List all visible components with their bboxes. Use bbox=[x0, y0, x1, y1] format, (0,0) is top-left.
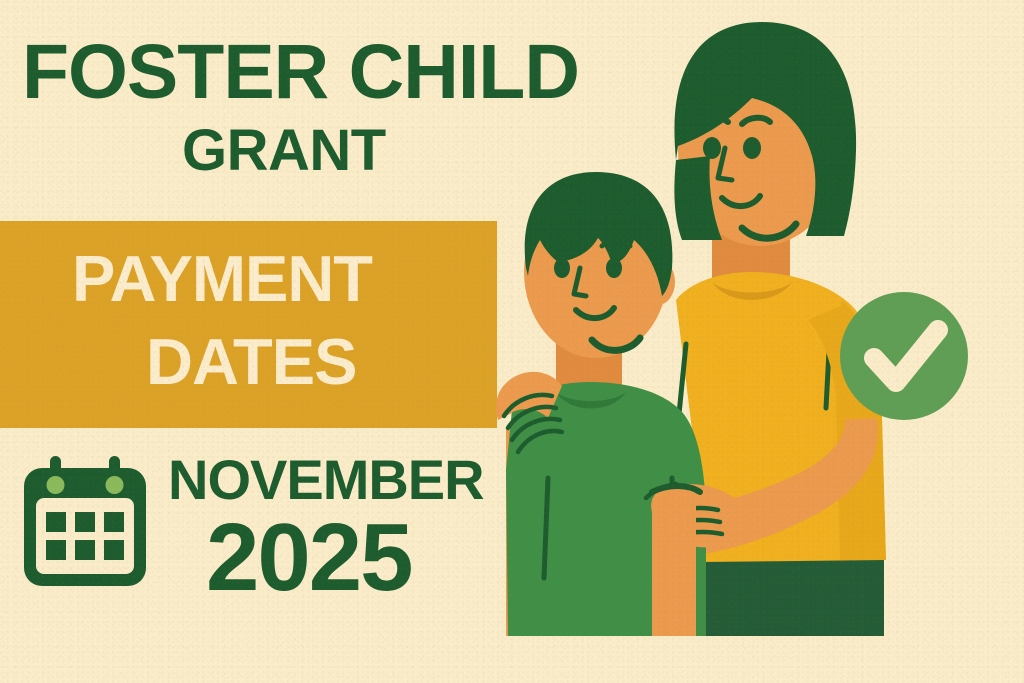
bottom-strip bbox=[0, 636, 1024, 683]
woman-pants bbox=[700, 556, 884, 636]
month-label: NOVEMBER bbox=[168, 452, 484, 508]
poster-canvas: FOSTER CHILD GRANT PAYMENT DATES NOVEMBE… bbox=[0, 0, 1024, 683]
year-label: 2025 bbox=[206, 510, 412, 606]
band-label-payment: PAYMENT bbox=[72, 246, 372, 311]
page-subtitle: GRANT bbox=[182, 122, 386, 180]
check-circle-icon bbox=[840, 292, 968, 420]
woman-eye-right bbox=[743, 137, 761, 159]
boy-eye-right bbox=[606, 258, 622, 278]
page-title: FOSTER CHILD bbox=[22, 36, 579, 110]
check-badge-circle bbox=[840, 292, 968, 420]
band-label-dates: DATES bbox=[146, 329, 356, 394]
boy-eye-left bbox=[554, 258, 570, 278]
calendar-icon bbox=[22, 454, 148, 588]
woman-eye-left bbox=[703, 137, 721, 159]
boy-forearm bbox=[652, 500, 696, 636]
